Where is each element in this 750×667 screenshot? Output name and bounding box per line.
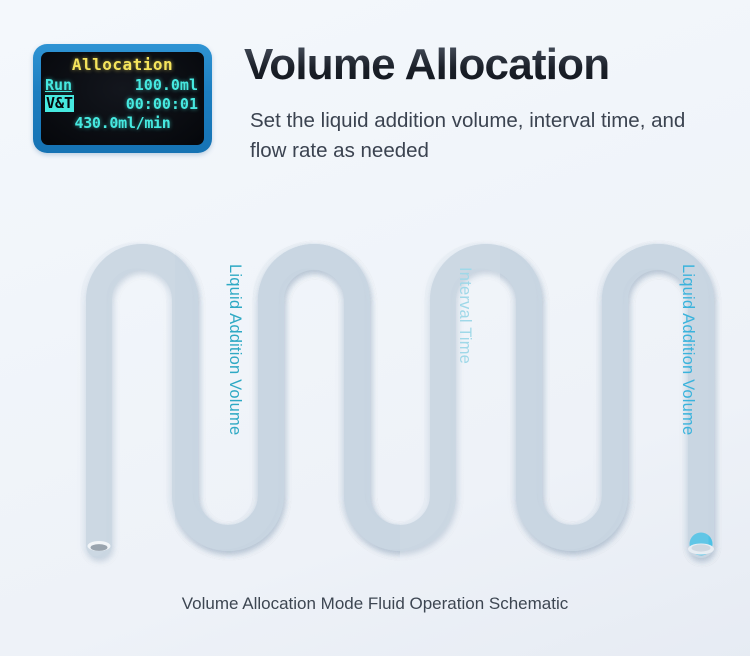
screen-run-label: Run xyxy=(45,76,72,94)
screen-row-run: Run 100.0ml xyxy=(41,76,204,95)
label-liquid-addition-volume-left: Liquid Addition Volume xyxy=(225,264,244,435)
fluid-schematic-diagram xyxy=(0,205,750,575)
device-display-bezel: Allocation Run 100.0ml V&T 00:00:01 430.… xyxy=(33,44,212,153)
tube-svg xyxy=(0,205,750,575)
diagram-caption: Volume Allocation Mode Fluid Operation S… xyxy=(0,594,750,614)
screen-vt-badge: V&T xyxy=(45,95,74,112)
page-subtitle: Set the liquid addition volume, interval… xyxy=(250,106,710,166)
screen-flowrate-value: 430.0ml/min xyxy=(41,114,204,132)
tube-inlet-end xyxy=(88,541,111,551)
screen-time-value: 00:00:01 xyxy=(126,95,198,113)
screen-row-vt: V&T 00:00:01 xyxy=(41,95,204,114)
label-interval-time: Interval Time xyxy=(455,267,474,364)
device-screen: Allocation Run 100.0ml V&T 00:00:01 430.… xyxy=(41,52,204,145)
screen-title: Allocation xyxy=(41,55,204,74)
label-liquid-addition-volume-right: Liquid Addition Volume xyxy=(678,264,697,435)
tube-highlight xyxy=(94,256,696,544)
page-title: Volume Allocation xyxy=(244,40,609,90)
tube-outlet-end xyxy=(688,544,714,555)
page-root: Allocation Run 100.0ml V&T 00:00:01 430.… xyxy=(0,0,750,667)
screen-volume-value: 100.0ml xyxy=(135,76,198,94)
screen-row-flow: 430.0ml/min xyxy=(41,114,204,133)
tube-geometry xyxy=(88,256,715,556)
